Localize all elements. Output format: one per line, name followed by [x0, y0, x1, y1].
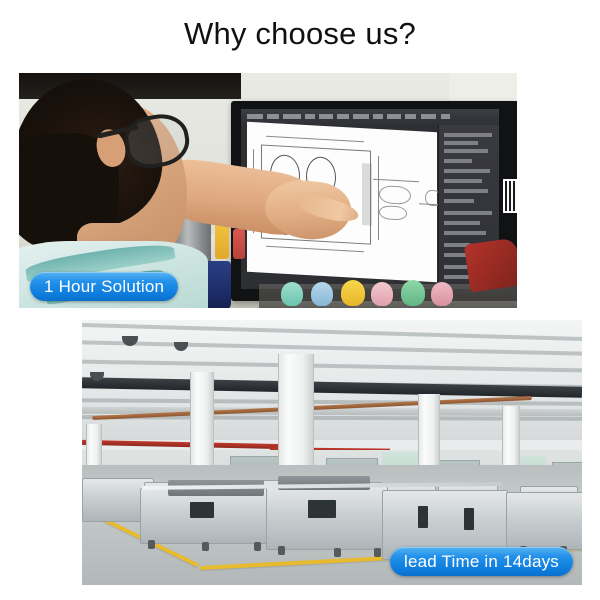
machine-caster	[374, 548, 381, 557]
machine-control-panel	[190, 502, 214, 518]
machine-caster	[148, 540, 155, 549]
qr-code-sticker	[503, 179, 517, 213]
machine-caster	[254, 542, 261, 551]
slide-canvas: Why choose us?	[0, 0, 600, 600]
blister-machine	[266, 486, 388, 550]
yellow-bottle	[215, 223, 229, 259]
toy-figure-pink2	[431, 282, 453, 306]
machine-caster	[202, 542, 209, 551]
badge-lead-time[interactable]: lead Time in 14days	[390, 547, 573, 576]
toy-figure-green2	[401, 280, 425, 306]
toy-figure-pink	[371, 282, 393, 306]
machine-door-handle	[464, 508, 474, 530]
machine-door-handle	[418, 506, 428, 528]
toy-figure-yellow	[341, 280, 365, 306]
page-title: Why choose us?	[0, 16, 600, 52]
toy-figure-green	[281, 282, 303, 306]
factory-production-floor-image	[82, 320, 582, 585]
machine-control-panel	[308, 500, 336, 518]
machine-caster	[278, 546, 285, 555]
badge-one-hour-solution[interactable]: 1 Hour Solution	[30, 272, 178, 301]
red-object	[464, 238, 517, 293]
toy-figure-blue	[311, 282, 333, 306]
red-bottle	[233, 229, 245, 259]
machine-caster	[334, 548, 341, 557]
end-of-line-machine	[506, 492, 582, 550]
